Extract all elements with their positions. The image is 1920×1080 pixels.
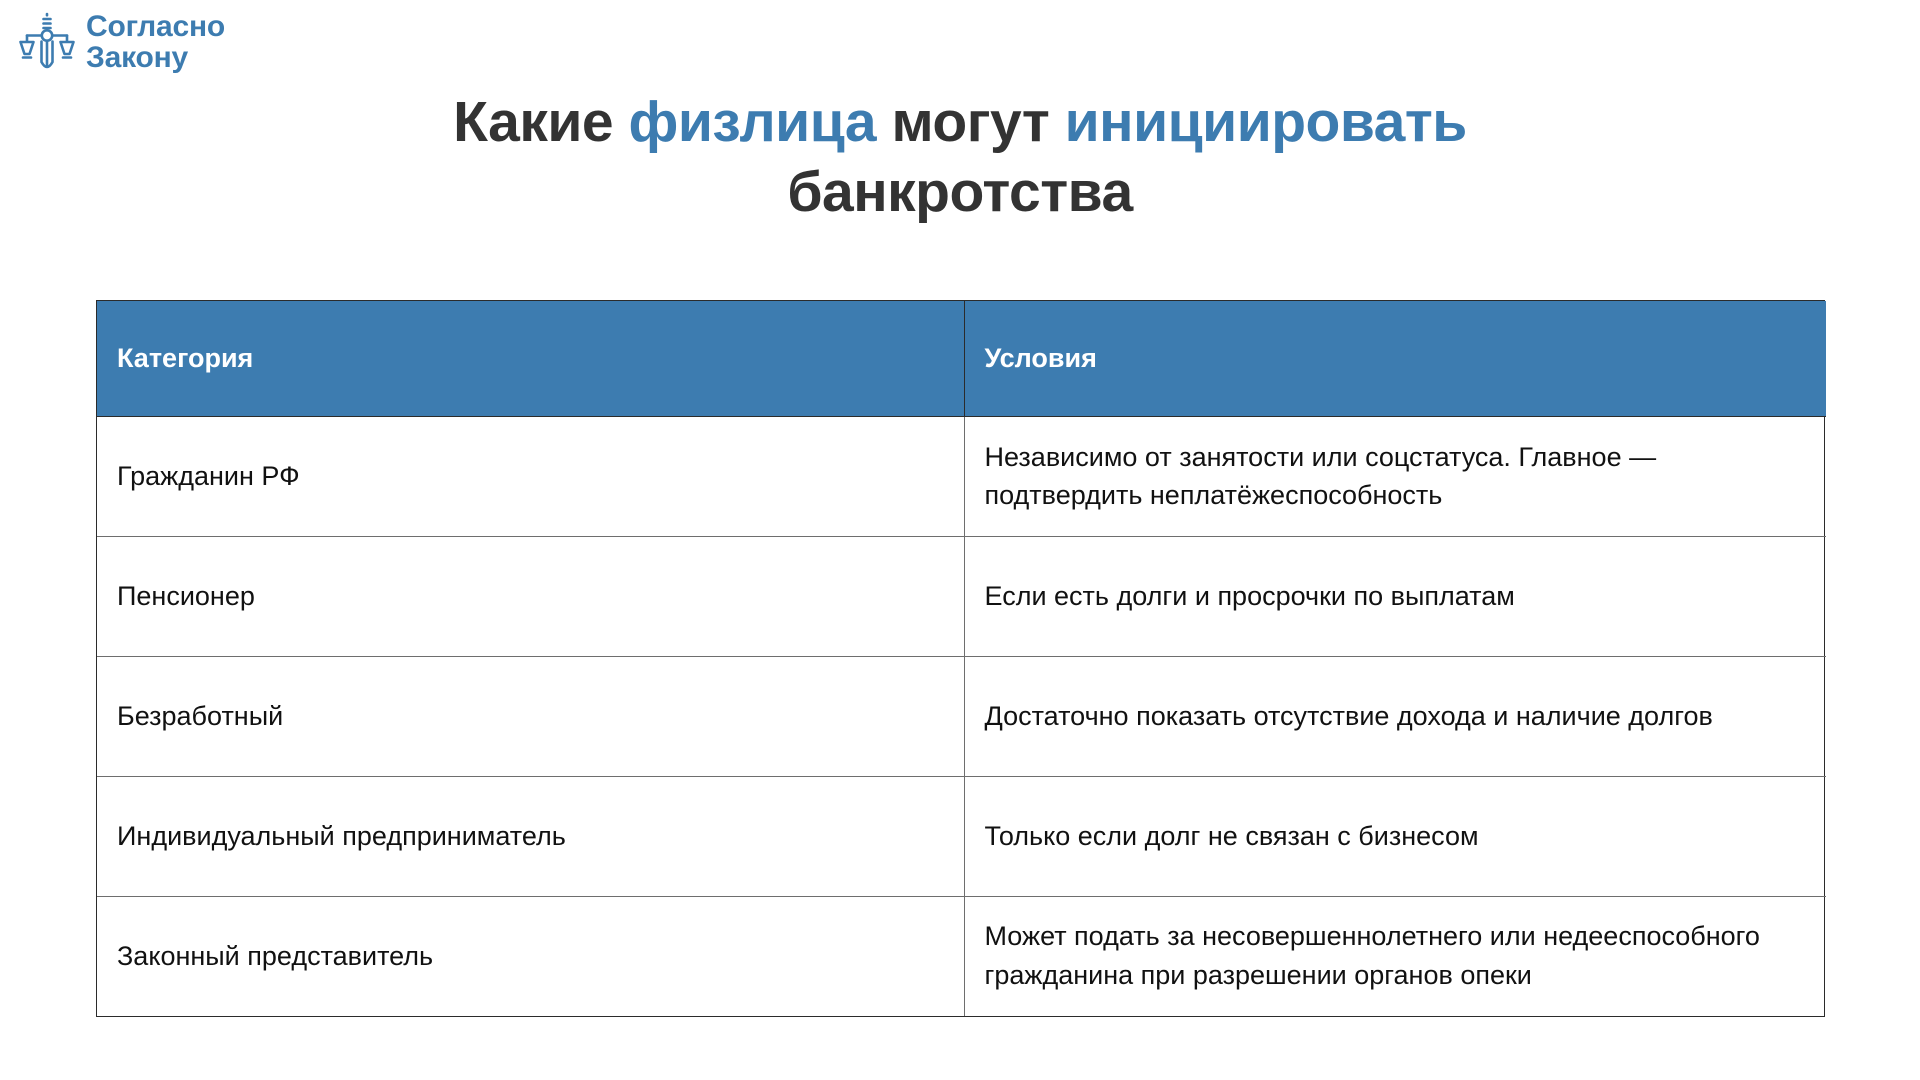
column-header-conditions: Условия xyxy=(964,301,1826,416)
cell-category: Пенсионер xyxy=(97,536,964,656)
column-header-category: Категория xyxy=(97,301,964,416)
title-segment-2: могут xyxy=(876,90,1064,154)
table-header-row: Категория Условия xyxy=(97,301,1826,416)
cell-conditions: Может подать за несовершеннолетнего или … xyxy=(964,896,1826,1016)
cell-conditions: Если есть долги и просрочки по выплатам xyxy=(964,536,1826,656)
title-segment-highlight-1: физлица xyxy=(628,90,876,154)
categories-table-wrap: Категория Условия Гражданин РФ Независим… xyxy=(96,300,1825,1017)
scales-sword-icon xyxy=(18,10,76,76)
table-body: Гражданин РФ Независимо от занятости или… xyxy=(97,416,1826,1016)
cell-category: Безработный xyxy=(97,656,964,776)
title-segment-3: банкротства xyxy=(787,160,1132,224)
cell-conditions: Только если долг не связан с бизнесом xyxy=(964,776,1826,896)
table-row: Гражданин РФ Независимо от занятости или… xyxy=(97,416,1826,536)
brand-wordmark: Согласно Закону xyxy=(86,12,225,73)
title-segment-highlight-2: инициировать xyxy=(1065,90,1467,154)
slide-root: Согласно Закону Какие физлица могут иниц… xyxy=(0,0,1920,1080)
table-row: Пенсионер Если есть долги и просрочки по… xyxy=(97,536,1826,656)
cell-category: Индивидуальный предприниматель xyxy=(97,776,964,896)
brand-line-1: Согласно xyxy=(86,12,225,43)
categories-table: Категория Условия Гражданин РФ Независим… xyxy=(97,301,1826,1016)
table-header: Категория Условия xyxy=(97,301,1826,416)
cell-conditions: Независимо от занятости или соцстатуса. … xyxy=(964,416,1826,536)
table-row: Законный представитель Может подать за н… xyxy=(97,896,1826,1016)
cell-conditions: Достаточно показать отсутствие дохода и … xyxy=(964,656,1826,776)
table-row: Индивидуальный предприниматель Только ес… xyxy=(97,776,1826,896)
cell-category: Гражданин РФ xyxy=(97,416,964,536)
cell-category: Законный представитель xyxy=(97,896,964,1016)
title-segment-1: Какие xyxy=(453,90,628,154)
table-row: Безработный Достаточно показать отсутств… xyxy=(97,656,1826,776)
brand-line-2: Закону xyxy=(86,43,225,74)
page-title: Какие физлица могут инициировать банкрот… xyxy=(310,88,1610,227)
brand-logo: Согласно Закону xyxy=(18,10,225,76)
